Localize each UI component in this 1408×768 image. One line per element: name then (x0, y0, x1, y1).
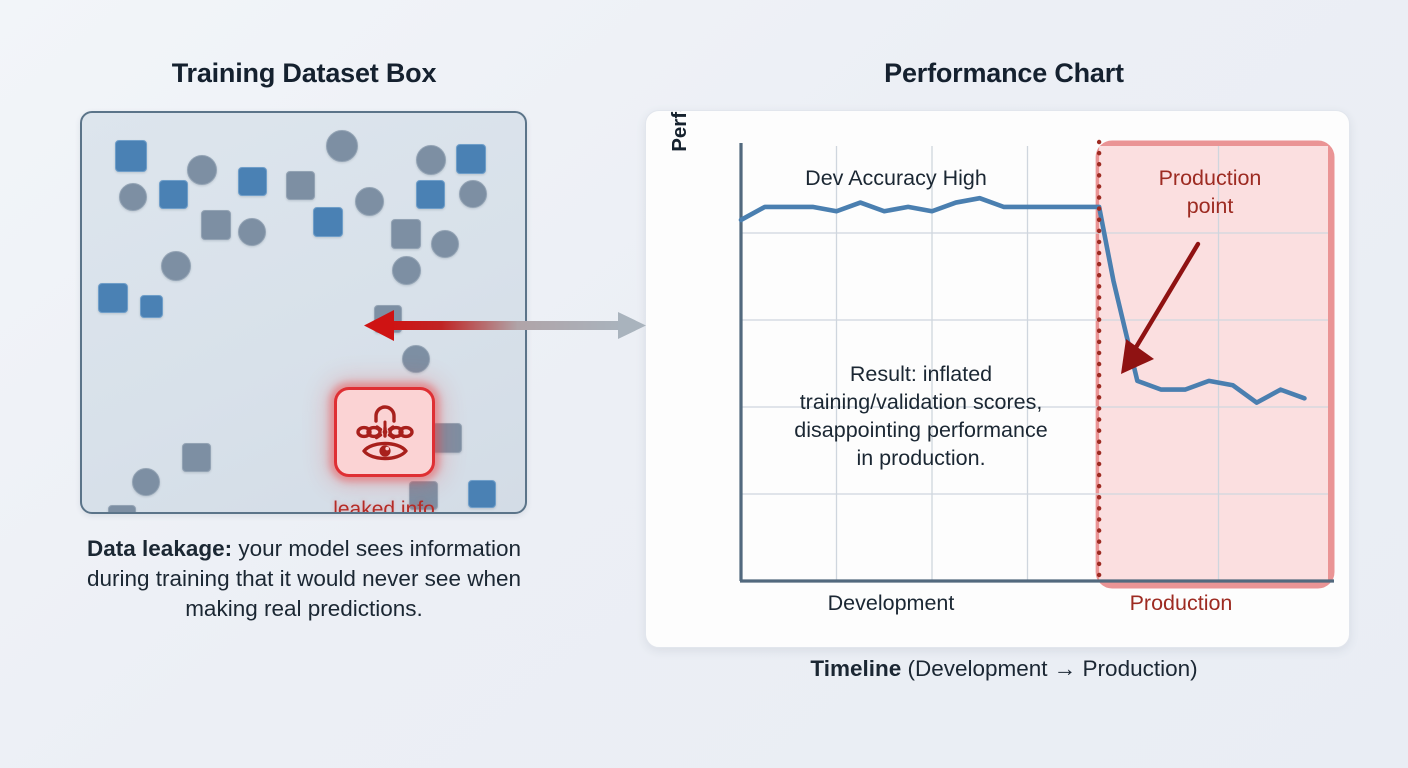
data-sample-square (182, 443, 211, 472)
data-sample-circle (187, 155, 217, 185)
performance-chart-card: Performance Score (%) Dev Accuracy High … (645, 110, 1350, 648)
data-sample-circle (416, 145, 446, 175)
chart-annotation-dev: Dev Accuracy High (746, 165, 1046, 193)
leaked-info-badge[interactable] (334, 387, 435, 477)
broken-lock-eye-icon (353, 401, 417, 463)
data-sample-circle (161, 251, 191, 281)
data-sample-circle (132, 468, 160, 496)
data-sample-square (391, 219, 421, 249)
leaked-info-label: leaked info (284, 498, 484, 514)
data-sample-square (115, 140, 147, 172)
arrow-head-right (618, 312, 646, 339)
data-sample-circle (459, 180, 487, 208)
performance-chart-panel: Performance Chart Performance Score (%) … (620, 0, 1408, 768)
leakage-link-arrow (360, 300, 650, 352)
data-sample-square (416, 180, 445, 209)
data-sample-square (238, 167, 267, 196)
data-sample-square (108, 505, 136, 514)
data-sample-square (159, 180, 188, 209)
chart-xtick-development: Development (766, 591, 1016, 616)
data-sample-square (201, 210, 231, 240)
data-sample-square (140, 295, 163, 318)
data-sample-circle (392, 256, 421, 285)
data-sample-circle (355, 187, 384, 216)
data-leakage-caption: Data leakage: your model sees informatio… (80, 534, 528, 624)
training-dataset-panel: Training Dataset Box (0, 0, 620, 768)
data-sample-circle (326, 130, 358, 162)
right-panel-title: Performance Chart (620, 58, 1388, 89)
data-sample-circle (119, 183, 147, 211)
data-sample-square (313, 207, 343, 237)
timeline-caption-term: Timeline (810, 656, 901, 681)
data-sample-square (286, 171, 315, 200)
data-sample-circle (238, 218, 266, 246)
chart-xtick-production: Production (1056, 591, 1306, 616)
timeline-caption-body: (Development → Production) (901, 656, 1197, 681)
data-sample-circle (431, 230, 459, 258)
arrow-head-left (364, 310, 394, 341)
left-panel-title: Training Dataset Box (0, 58, 608, 89)
data-sample-square (98, 283, 128, 313)
data-leakage-caption-term: Data leakage: (87, 536, 232, 561)
data-sample-square (456, 144, 486, 174)
chart-annotation-prod: Production point (1126, 165, 1294, 221)
chart-annotation-result: Result: inflated training/validation sco… (761, 361, 1081, 473)
data-sample-square (432, 423, 462, 453)
timeline-caption: Timeline (Development → Production) (620, 656, 1388, 682)
